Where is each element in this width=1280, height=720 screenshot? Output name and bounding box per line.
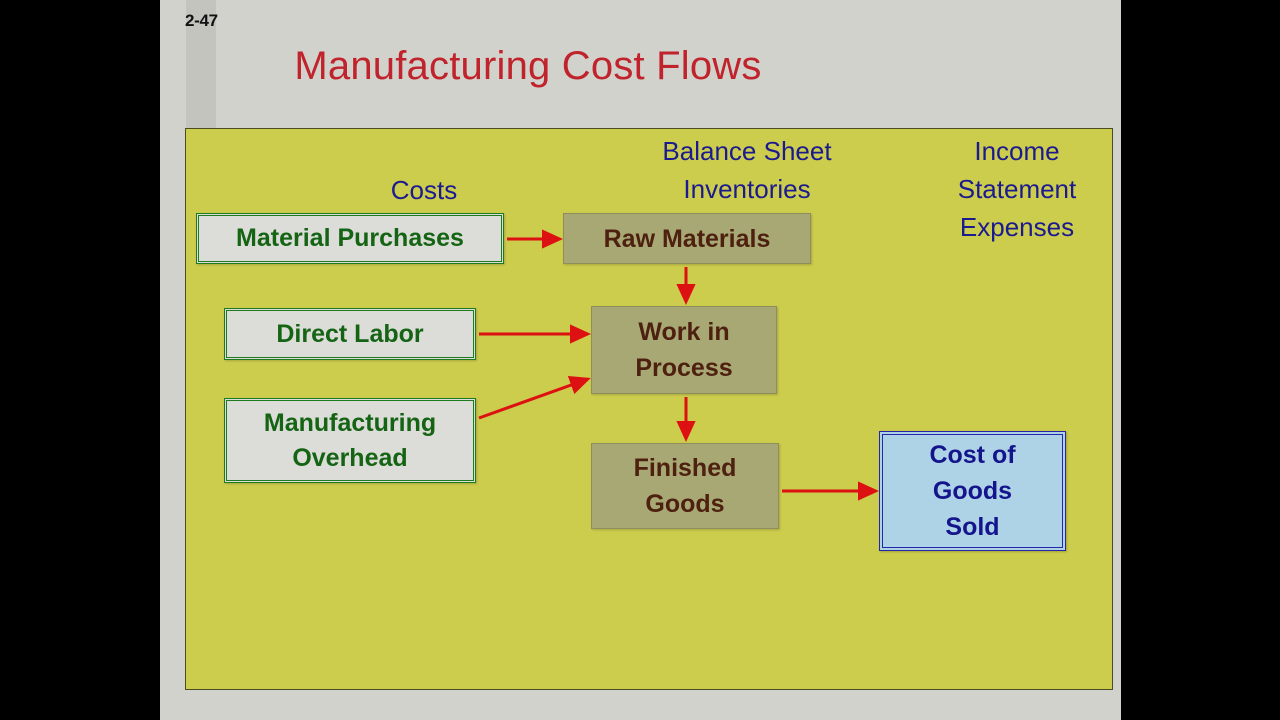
slide-stage: 2-47 Manufacturing Cost Flows Costs Bala… [0, 0, 1280, 720]
node-finished-goods[interactable]: Finished Goods [591, 443, 779, 529]
node-raw-materials[interactable]: Raw Materials [563, 213, 811, 264]
column-header-income-statement: Income Statement Expenses [908, 132, 1126, 246]
column-header-costs: Costs [264, 171, 584, 209]
arrow-overhead-to-wip [479, 379, 588, 418]
page-title: Manufacturing Cost Flows [186, 44, 870, 89]
node-material-purchases[interactable]: Material Purchases [196, 213, 504, 264]
node-work-in-process[interactable]: Work in Process [591, 306, 777, 394]
node-cost-of-goods-sold[interactable]: Cost of Goods Sold [879, 431, 1066, 551]
node-manufacturing-overhead[interactable]: Manufacturing Overhead [224, 398, 476, 483]
column-header-balance-sheet: Balance Sheet Inventories [586, 132, 908, 208]
node-direct-labor[interactable]: Direct Labor [224, 308, 476, 360]
cost-flow-diagram: Costs Balance Sheet Inventories Income S… [185, 128, 1113, 690]
slide-number: 2-47 [185, 11, 218, 31]
